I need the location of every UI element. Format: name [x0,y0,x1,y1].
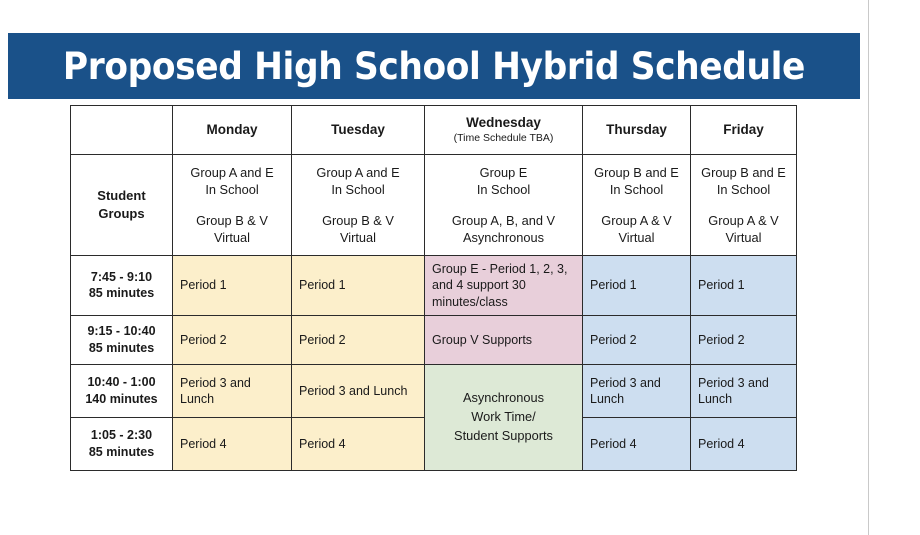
student-groups-label-line2: Groups [98,206,144,221]
header-friday: Friday [691,106,797,155]
title-banner: Proposed High School Hybrid Schedule [8,33,860,99]
time-cell-row1: 7:45 - 9:10 85 minutes [71,256,173,316]
header-monday-label: Monday [173,122,291,139]
student-groups-monday: Group A and E In School Group B & V Virt… [173,155,292,256]
cell-thursday-row1: Period 1 [583,256,691,316]
cell-wednesday-row2-text: Group V Supports [425,327,582,353]
header-corner-cell [71,106,173,155]
cell-monday-row4: Period 4 [173,417,292,470]
spacer [292,199,424,212]
cell-tuesday-row3-text: Period 3 and Lunch [292,378,424,404]
groups-friday-other-1: Group A & V [708,213,778,228]
cell-thursday-row1-text: Period 1 [583,272,690,298]
time-cell-row4: 1:05 - 2:30 85 minutes [71,417,173,470]
hybrid-schedule-table: Monday Tuesday Wednesday (Time Schedule … [70,105,797,471]
table-row: 10:40 - 1:00 140 minutes Period 3 and Lu… [71,364,797,417]
header-friday-label: Friday [691,122,796,139]
groups-friday-inschool-1: Group B and E [701,165,786,180]
student-groups-label-cell: Student Groups [71,155,173,256]
cell-monday-row2: Period 2 [173,315,292,364]
groups-friday-inschool-2: In School [717,182,770,197]
cell-friday-row2-text: Period 2 [691,327,796,353]
groups-wednesday-inschool-1: Group E [480,165,528,180]
header-wednesday-label: Wednesday [425,115,582,132]
cell-wednesday-row1-text: Group E - Period 1, 2, 3, and 4 support … [425,256,582,315]
table-header-row: Monday Tuesday Wednesday (Time Schedule … [71,106,797,155]
cell-wednesday-asynchronous-merged: Asynchronous Work Time/ Student Supports [425,364,583,470]
cell-tuesday-row2-text: Period 2 [292,327,424,353]
async-line1: Asynchronous [463,390,544,405]
cell-friday-row1: Period 1 [691,256,797,316]
cell-monday-row3-text: Period 3 and Lunch [173,370,291,413]
spacer [173,199,291,212]
groups-monday-other-1: Group B & V [196,213,268,228]
groups-monday-other-2: Virtual [214,230,250,245]
header-monday: Monday [173,106,292,155]
cell-thursday-row4-text: Period 4 [583,431,690,457]
table-row: 7:45 - 9:10 85 minutes Period 1 Period 1… [71,256,797,316]
groups-thursday-other-1: Group A & V [601,213,671,228]
cell-thursday-row4: Period 4 [583,417,691,470]
time-row3-line2: 140 minutes [85,392,157,406]
header-tuesday: Tuesday [292,106,425,155]
async-line3: Student Supports [454,428,553,443]
cell-tuesday-row3: Period 3 and Lunch [292,364,425,417]
header-wednesday-sub: (Time Schedule TBA) [425,132,582,145]
page-edge-rule [868,0,869,535]
groups-monday-inschool-2: In School [205,182,258,197]
groups-wednesday-other-1: Group A, B, and V [452,213,555,228]
cell-wednesday-row1: Group E - Period 1, 2, 3, and 4 support … [425,256,583,316]
student-groups-thursday: Group B and E In School Group A & V Virt… [583,155,691,256]
cell-friday-row2: Period 2 [691,315,797,364]
cell-friday-row4-text: Period 4 [691,431,796,457]
time-row2-line1: 9:15 - 10:40 [87,324,155,338]
time-row3-line1: 10:40 - 1:00 [87,375,155,389]
time-row4-line2: 85 minutes [89,445,154,459]
spacer [425,199,582,212]
table-row: 9:15 - 10:40 85 minutes Period 2 Period … [71,315,797,364]
cell-tuesday-row1: Period 1 [292,256,425,316]
header-wednesday: Wednesday (Time Schedule TBA) [425,106,583,155]
cell-monday-row2-text: Period 2 [173,327,291,353]
cell-friday-row4: Period 4 [691,417,797,470]
cell-thursday-row3-text: Period 3 and Lunch [583,370,690,413]
student-groups-friday: Group B and E In School Group A & V Virt… [691,155,797,256]
header-tuesday-label: Tuesday [292,122,424,139]
cell-thursday-row3: Period 3 and Lunch [583,364,691,417]
time-row4-line1: 1:05 - 2:30 [91,428,152,442]
groups-tuesday-other-2: Virtual [340,230,376,245]
header-thursday-label: Thursday [583,122,690,139]
time-cell-row3: 10:40 - 1:00 140 minutes [71,364,173,417]
groups-wednesday-inschool-2: In School [477,182,530,197]
groups-thursday-inschool-1: Group B and E [594,165,679,180]
schedule-table-container: Monday Tuesday Wednesday (Time Schedule … [70,105,796,471]
cell-monday-row1: Period 1 [173,256,292,316]
groups-wednesday-other-2: Asynchronous [463,230,544,245]
cell-friday-row3-text: Period 3 and Lunch [691,370,796,413]
cell-monday-row4-text: Period 4 [173,431,291,457]
cell-wednesday-row2: Group V Supports [425,315,583,364]
cell-friday-row3: Period 3 and Lunch [691,364,797,417]
spacer [583,199,690,212]
cell-thursday-row2-text: Period 2 [583,327,690,353]
student-groups-label-line1: Student [97,188,145,203]
cell-monday-row3: Period 3 and Lunch [173,364,292,417]
groups-tuesday-inschool-1: Group A and E [316,165,399,180]
cell-friday-row1-text: Period 1 [691,272,796,298]
cell-tuesday-row1-text: Period 1 [292,272,424,298]
cell-tuesday-row4: Period 4 [292,417,425,470]
time-row1-line1: 7:45 - 9:10 [91,270,152,284]
groups-thursday-other-2: Virtual [618,230,654,245]
groups-tuesday-inschool-2: In School [331,182,384,197]
time-row2-line2: 85 minutes [89,341,154,355]
groups-thursday-inschool-2: In School [610,182,663,197]
groups-tuesday-other-1: Group B & V [322,213,394,228]
student-groups-row: Student Groups Group A and E In School G… [71,155,797,256]
time-row1-line2: 85 minutes [89,286,154,300]
groups-friday-other-2: Virtual [725,230,761,245]
async-line2: Work Time/ [471,409,535,424]
student-groups-tuesday: Group A and E In School Group B & V Virt… [292,155,425,256]
cell-monday-row1-text: Period 1 [173,272,291,298]
header-thursday: Thursday [583,106,691,155]
cell-thursday-row2: Period 2 [583,315,691,364]
groups-monday-inschool-1: Group A and E [190,165,273,180]
student-groups-wednesday: Group E In School Group A, B, and V Asyn… [425,155,583,256]
time-cell-row2: 9:15 - 10:40 85 minutes [71,315,173,364]
page-title: Proposed High School Hybrid Schedule [63,48,805,85]
cell-tuesday-row4-text: Period 4 [292,431,424,457]
spacer [691,199,796,212]
cell-tuesday-row2: Period 2 [292,315,425,364]
